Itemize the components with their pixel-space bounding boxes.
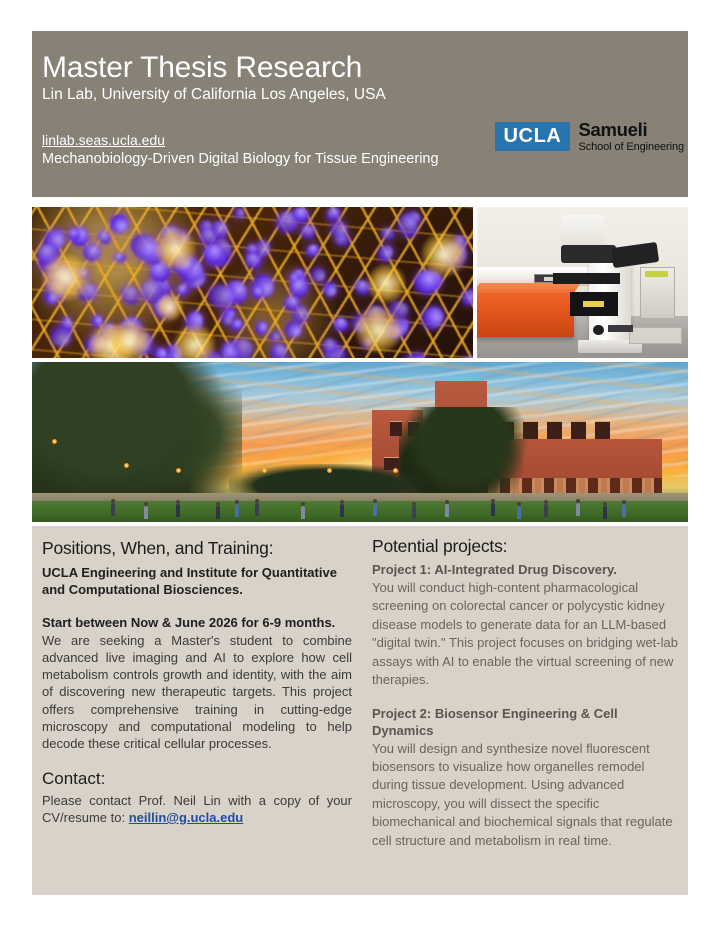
position-description: We are seeking a Master's student to com… <box>42 632 352 753</box>
campus-sunset-photo <box>32 362 688 522</box>
microscope-label <box>583 301 604 307</box>
project-1-title: Project 1: AI-Integrated Drug Discovery. <box>372 562 680 579</box>
right-column: Potential projects: Project 1: AI-Integr… <box>372 536 680 850</box>
samueli-name: Samueli <box>578 121 684 140</box>
orange-laser-unit <box>477 292 574 337</box>
lab-affiliation: Lin Lab, University of California Los An… <box>40 86 688 105</box>
microscope-arm <box>561 245 616 263</box>
right-spacer-1 <box>372 690 680 706</box>
cells-microscopy-image <box>32 207 473 358</box>
poster-header: Master Thesis Research Lin Lab, Universi… <box>32 31 688 197</box>
project-1-body: You will conduct high-content pharmacolo… <box>372 579 680 690</box>
campus-lawn <box>32 501 688 522</box>
project-2-title: Project 2: Biosensor Engineering & Cell … <box>372 706 680 740</box>
left-spacer-1 <box>42 598 352 614</box>
contact-email-link[interactable]: neillin@g.ucla.edu <box>129 810 244 825</box>
left-spacer-2 <box>42 753 352 769</box>
affiliation-text: UCLA Engineering and Institute for Quant… <box>42 564 352 598</box>
samueli-school: School of Engineering <box>578 142 684 153</box>
bench-pad <box>629 327 682 344</box>
project-2-body: You will design and synthesize novel flu… <box>372 740 680 851</box>
ucla-wordmark: UCLA <box>495 122 571 151</box>
ucla-samueli-logo: UCLA Samueli School of Engineering <box>495 121 685 153</box>
positions-heading: Positions, When, and Training: <box>42 538 352 558</box>
controller-unit <box>640 267 676 319</box>
microscope-stage <box>553 273 621 284</box>
content-panel: Positions, When, and Training: UCLA Engi… <box>32 526 688 895</box>
contact-instructions: Please contact Prof. Neil Lin with a cop… <box>42 792 352 827</box>
start-date-text: Start between Now & June 2026 for 6-9 mo… <box>42 614 352 631</box>
projects-heading: Potential projects: <box>372 536 680 556</box>
left-column: Positions, When, and Training: UCLA Engi… <box>42 538 352 826</box>
samueli-wordmark: Samueli School of Engineering <box>578 121 684 153</box>
contact-heading: Contact: <box>42 769 352 789</box>
control-panel <box>608 325 633 333</box>
campus-walkway <box>32 493 688 501</box>
lab-tagline: Mechanobiology-Driven Digital Biology fo… <box>40 150 688 169</box>
microscope-head <box>561 215 603 248</box>
poster-page: Master Thesis Research Lin Lab, Universi… <box>0 0 718 929</box>
focus-knob <box>593 325 604 336</box>
microscope-photo <box>477 207 688 358</box>
page-title: Master Thesis Research <box>40 51 688 84</box>
